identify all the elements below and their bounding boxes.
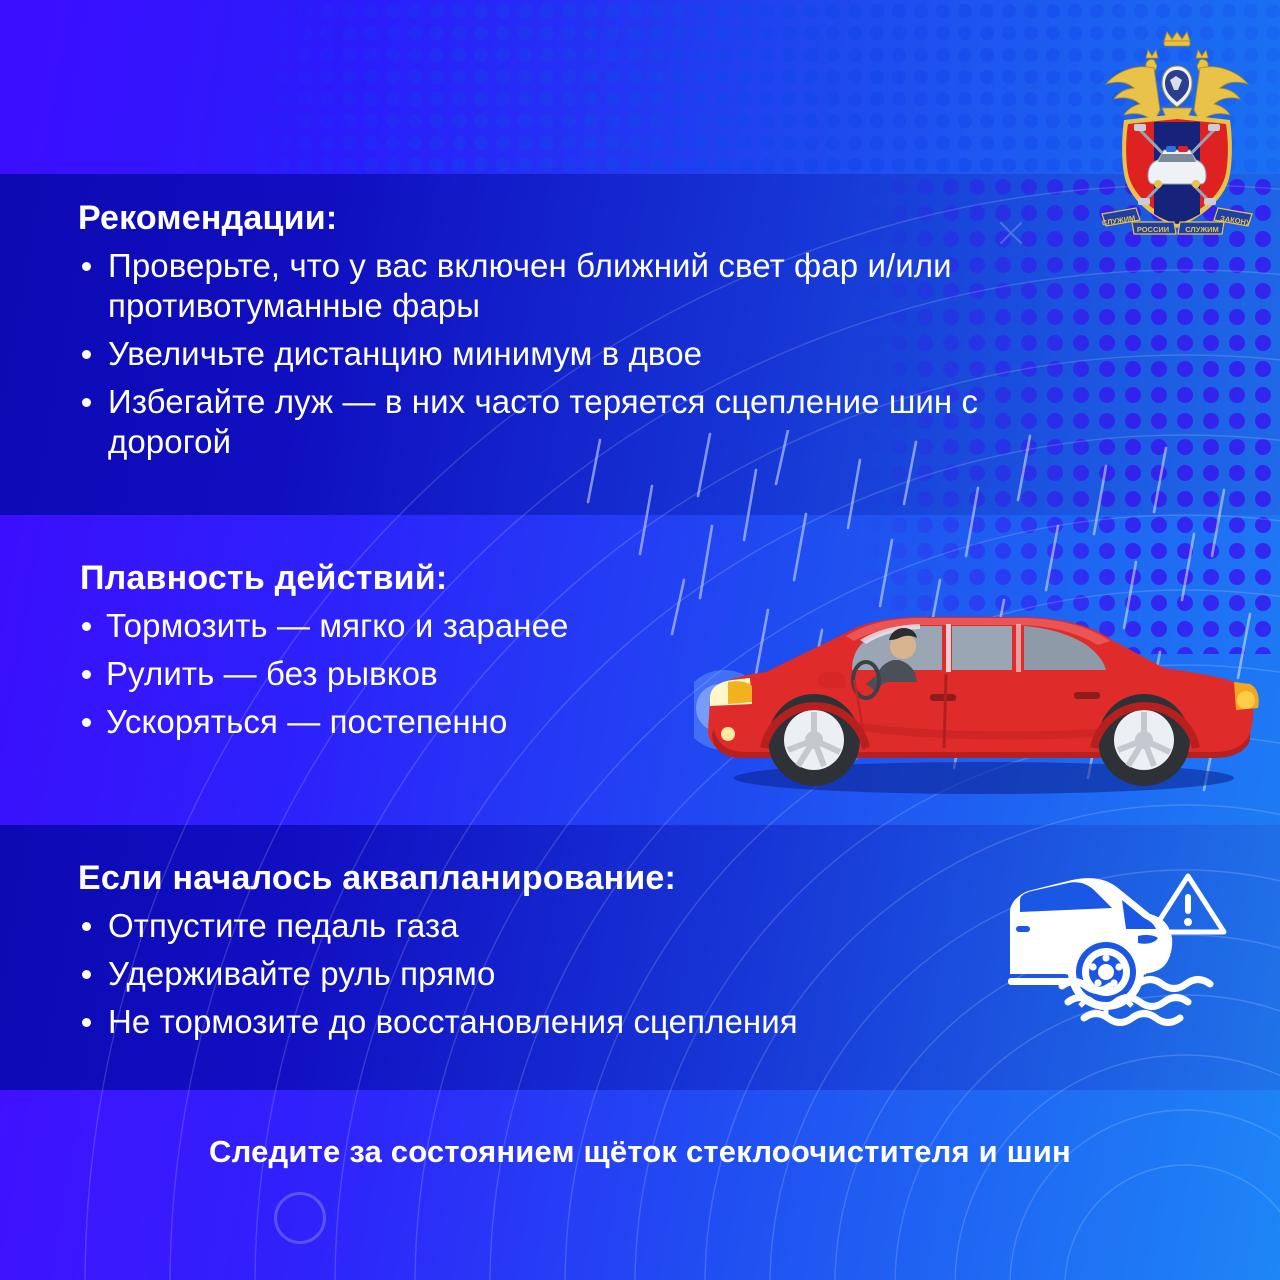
section-aquaplaning-list: Отпустите педаль газа Удерживайте руль п… xyxy=(70,906,1000,1042)
footer-reminder-text: Следите за состоянием щёток стеклоочисти… xyxy=(0,1133,1280,1171)
poster-canvas: СЛУЖИМ ЗАКОНУ РОССИИ СЛУЖИМ Рекомендации… xyxy=(0,0,1280,1280)
section-smoothness: Плавность действий: Тормозить — мягко и … xyxy=(70,558,750,750)
section-smoothness-list: Тормозить — мягко и заранее Рулить — без… xyxy=(70,606,750,742)
mvd-gibdd-emblem: СЛУЖИМ ЗАКОНУ РОССИИ СЛУЖИМ xyxy=(1092,26,1262,248)
emblem-ribbon-word-2: РОССИИ xyxy=(1137,225,1169,234)
list-item: Рулить — без рывков xyxy=(70,654,750,694)
aquaplaning-warning-icon xyxy=(998,866,1230,1026)
section-aquaplaning: Если началось аквапланирование: Отпустит… xyxy=(70,858,1000,1050)
list-item: Избегайте луж — в них часто теряется сце… xyxy=(70,382,1080,462)
decorative-circle-outline xyxy=(274,1192,326,1244)
list-item: Увеличьте дистанцию минимум в двое xyxy=(70,334,1080,374)
emblem-ribbon-word-3: СЛУЖИМ xyxy=(1185,225,1219,234)
background-band-5 xyxy=(0,1090,1280,1280)
section-recommendations: Рекомендации: Проверьте, что у вас включ… xyxy=(70,198,1080,470)
list-item: Не тормозите до восстановления сцепления xyxy=(70,1002,1000,1042)
section-recommendations-title: Рекомендации: xyxy=(70,198,1080,238)
section-smoothness-title: Плавность действий: xyxy=(70,558,750,598)
water-waves-icon xyxy=(1062,980,1210,1023)
list-item: Удерживайте руль прямо xyxy=(70,954,1000,994)
list-item: Тормозить — мягко и заранее xyxy=(70,606,750,646)
section-recommendations-list: Проверьте, что у вас включен ближний све… xyxy=(70,246,1080,462)
section-aquaplaning-title: Если началось аквапланирование: xyxy=(70,858,1000,898)
list-item: Ускоряться — постепенно xyxy=(70,702,750,742)
list-item: Отпустите педаль газа xyxy=(70,906,1000,946)
background-band-1 xyxy=(0,0,1280,174)
red-sedan-in-rain-illustration xyxy=(694,588,1264,803)
list-item: Проверьте, что у вас включен ближний све… xyxy=(70,246,1080,326)
